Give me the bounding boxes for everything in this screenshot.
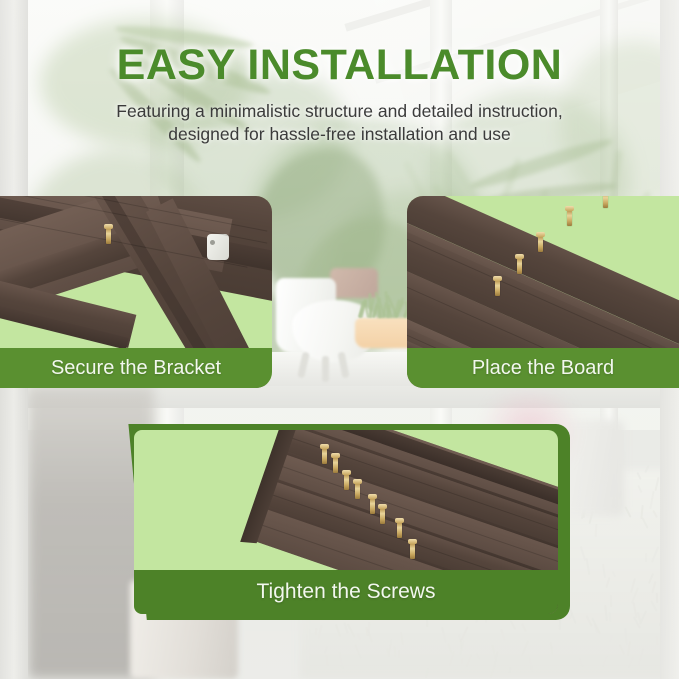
step-1-label: Secure the Bracket (0, 348, 272, 388)
subtitle-line-2: designed for hassle-free installation an… (168, 124, 510, 144)
step-card-tighten-the-screws-frame: Tighten the Screws (110, 424, 570, 620)
step-3-label: Tighten the Screws (134, 570, 558, 614)
step-card-secure-the-bracket: Secure the Bracket (0, 196, 272, 388)
infographic-root: EASY INSTALLATION Featuring a minimalist… (0, 0, 679, 679)
step-2-label: Place the Board (407, 348, 679, 388)
subtitle-line-1: Featuring a minimalistic structure and d… (116, 101, 562, 121)
header: EASY INSTALLATION Featuring a minimalist… (0, 0, 679, 147)
step-card-tighten-the-screws: Tighten the Screws (134, 430, 558, 614)
page-subtitle: Featuring a minimalistic structure and d… (0, 87, 679, 147)
page-title: EASY INSTALLATION (0, 0, 679, 87)
step-card-place-the-board: Place the Board (407, 196, 679, 388)
